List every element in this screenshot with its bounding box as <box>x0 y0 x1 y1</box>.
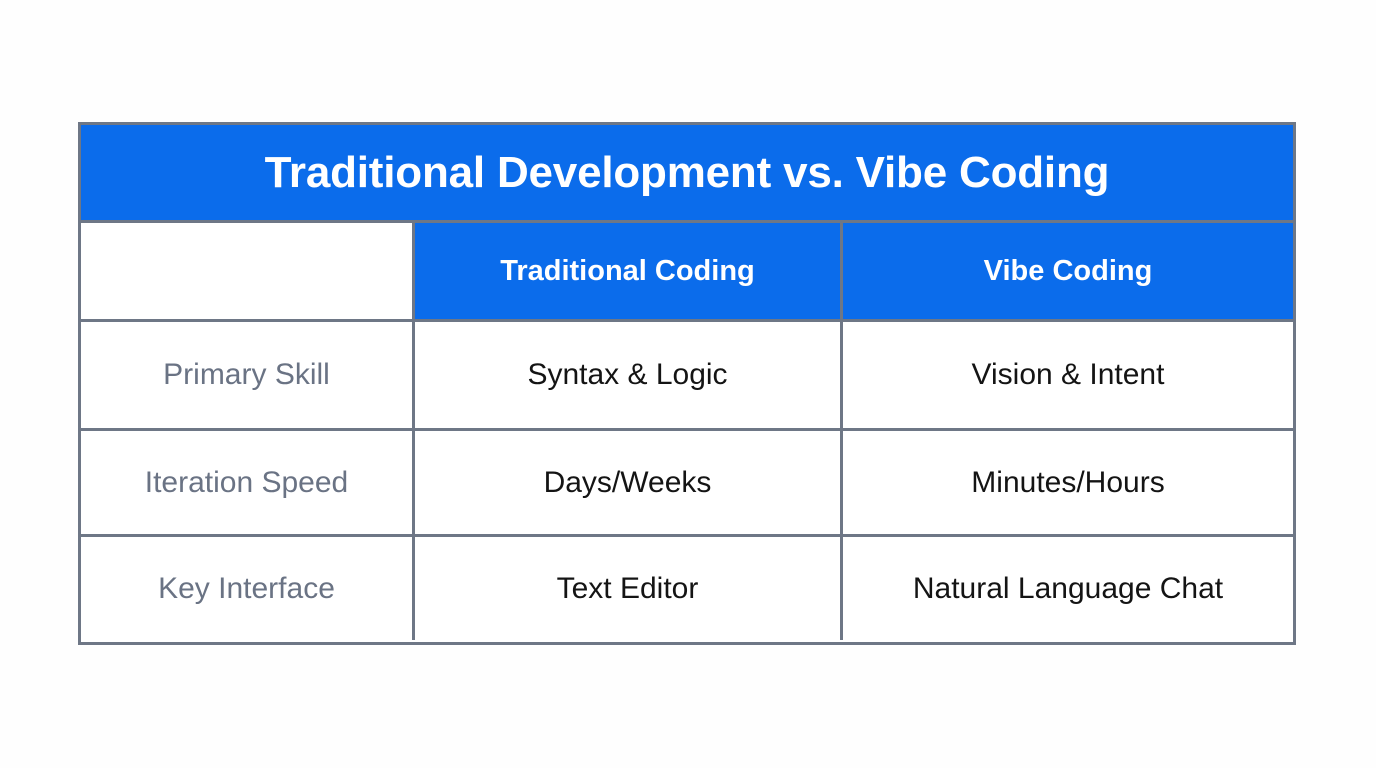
row-label-key-interface: Key Interface <box>158 574 335 604</box>
cell-value-key-interface-vibe: Natural Language Chat <box>913 574 1223 604</box>
table-row: Iteration Speed Days/Weeks Minutes/Hours <box>81 428 1293 534</box>
cell-vibe: Vision & Intent <box>840 322 1293 428</box>
table-header-row: Traditional Coding Vibe Coding <box>81 223 1293 322</box>
cell-traditional: Text Editor <box>412 537 840 640</box>
header-cell-vibe: Vibe Coding <box>840 223 1293 319</box>
cell-value-primary-skill-vibe: Vision & Intent <box>972 360 1165 390</box>
header-label-vibe: Vibe Coding <box>984 257 1153 286</box>
cell-value-iteration-speed-traditional: Days/Weeks <box>544 468 712 498</box>
cell-value-primary-skill-traditional: Syntax & Logic <box>527 360 727 390</box>
header-label-traditional: Traditional Coding <box>500 257 755 286</box>
row-label-primary-skill: Primary Skill <box>163 360 330 390</box>
row-label-cell: Key Interface <box>81 537 412 640</box>
cell-traditional: Days/Weeks <box>412 431 840 534</box>
comparison-table: Traditional Development vs. Vibe Coding … <box>78 122 1296 645</box>
row-label-cell: Primary Skill <box>81 322 412 428</box>
header-cell-blank <box>81 223 412 319</box>
table-row: Key Interface Text Editor Natural Langua… <box>81 534 1293 640</box>
page-canvas: Traditional Development vs. Vibe Coding … <box>0 0 1376 768</box>
page-title: Traditional Development vs. Vibe Coding <box>265 151 1110 195</box>
cell-vibe: Minutes/Hours <box>840 431 1293 534</box>
row-label-cell: Iteration Speed <box>81 431 412 534</box>
row-label-iteration-speed: Iteration Speed <box>145 468 348 498</box>
table-row: Primary Skill Syntax & Logic Vision & In… <box>81 322 1293 428</box>
cell-value-iteration-speed-vibe: Minutes/Hours <box>971 468 1164 498</box>
cell-value-key-interface-traditional: Text Editor <box>557 574 699 604</box>
table-title-banner: Traditional Development vs. Vibe Coding <box>81 125 1293 223</box>
cell-vibe: Natural Language Chat <box>840 537 1293 640</box>
header-cell-traditional: Traditional Coding <box>412 223 840 319</box>
cell-traditional: Syntax & Logic <box>412 322 840 428</box>
